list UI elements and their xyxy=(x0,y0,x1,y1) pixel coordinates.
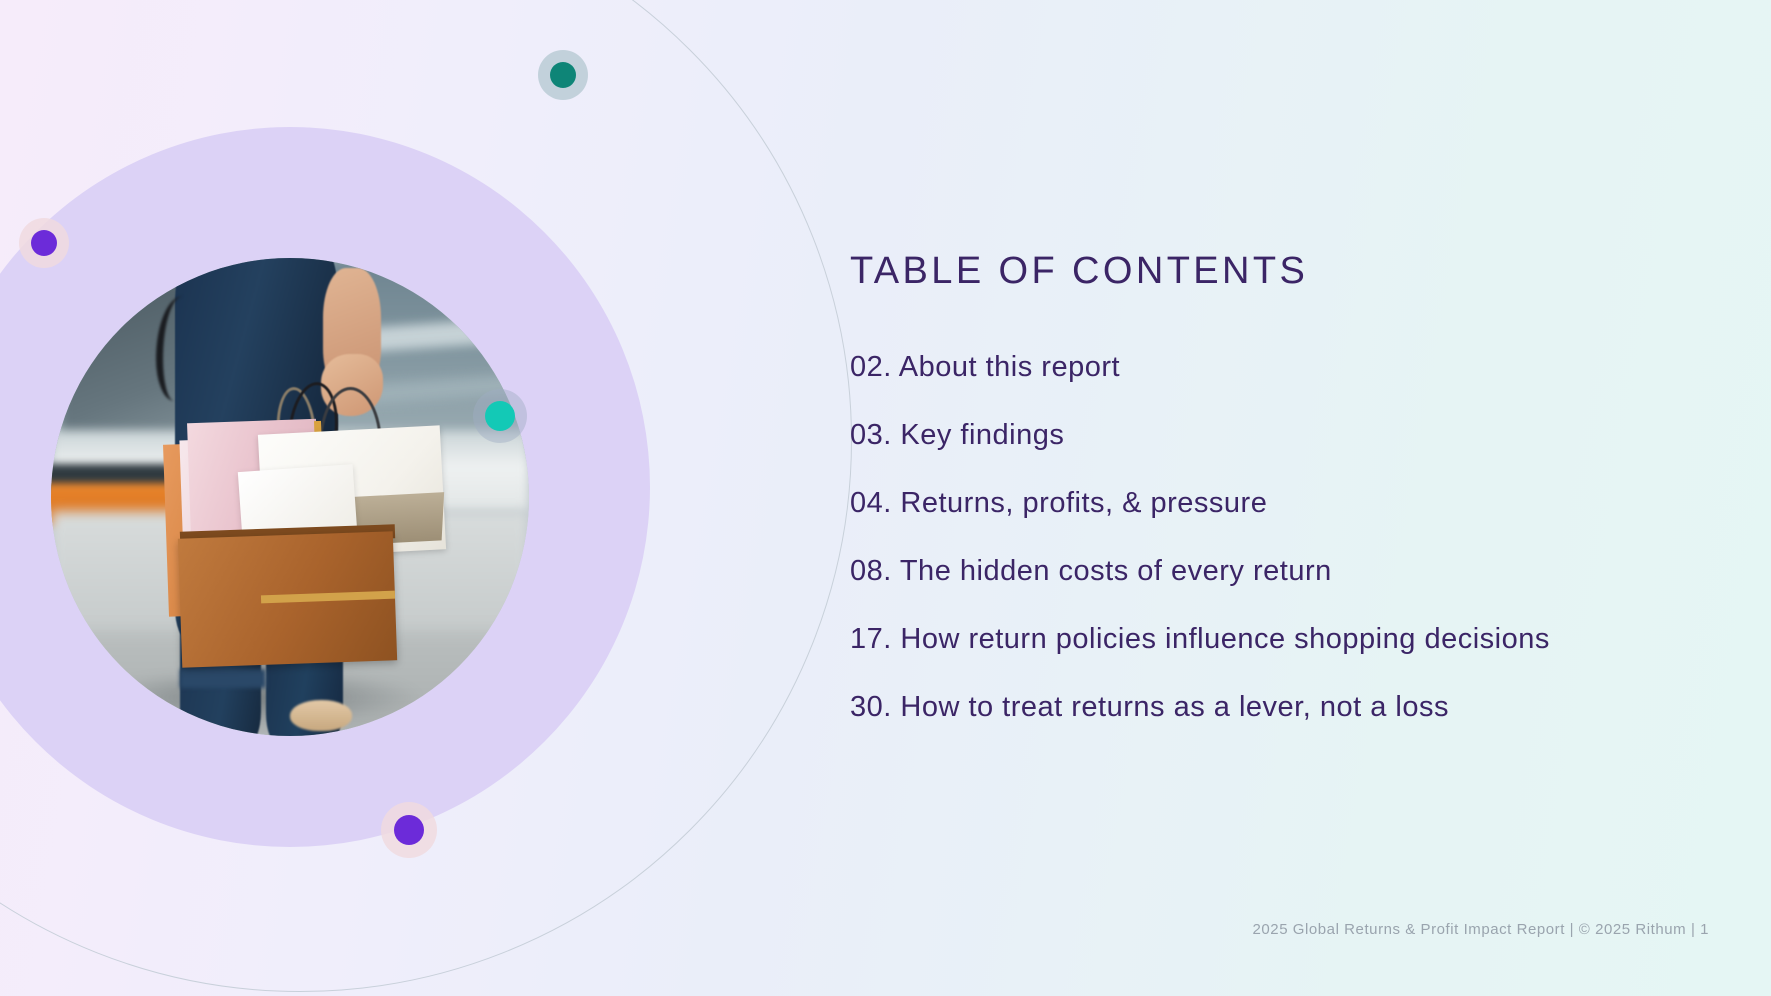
dot-purple-left xyxy=(19,218,69,268)
dot-teal-mid xyxy=(473,389,527,443)
dot-teal-mid-core xyxy=(485,401,515,431)
toc-entry-03[interactable]: 03. Key findings xyxy=(850,419,1710,452)
toc-entry-08[interactable]: 08. The hidden costs of every return xyxy=(850,555,1710,588)
toc-entry-04[interactable]: 04. Returns, profits, & pressure xyxy=(850,487,1710,520)
dot-purple-left-core xyxy=(31,230,57,256)
trouser-cuff xyxy=(180,669,266,688)
toc-entry-17[interactable]: 17. How return policies influence shoppi… xyxy=(850,623,1710,656)
slide-footer: 2025 Global Returns & Profit Impact Repo… xyxy=(1253,921,1709,938)
dot-purple-bottom-core xyxy=(394,815,424,845)
dot-teal-top-core xyxy=(550,62,576,88)
page-title: TABLE OF CONTENTS xyxy=(850,250,1710,293)
dot-purple-bottom xyxy=(381,802,437,858)
dot-teal-top xyxy=(538,50,588,100)
photo-inner xyxy=(51,258,529,736)
toc-list: 02. About this report 03. Key findings 0… xyxy=(850,351,1710,724)
shopper-shoe xyxy=(290,700,352,731)
toc-entry-30[interactable]: 30. How to treat returns as a lever, not… xyxy=(850,691,1710,724)
table-of-contents-panel: TABLE OF CONTENTS 02. About this report … xyxy=(850,250,1710,724)
slide-root: TABLE OF CONTENTS 02. About this report … xyxy=(0,0,1771,996)
toc-entry-02[interactable]: 02. About this report xyxy=(850,351,1710,384)
shopper-photo-circle xyxy=(51,258,529,736)
